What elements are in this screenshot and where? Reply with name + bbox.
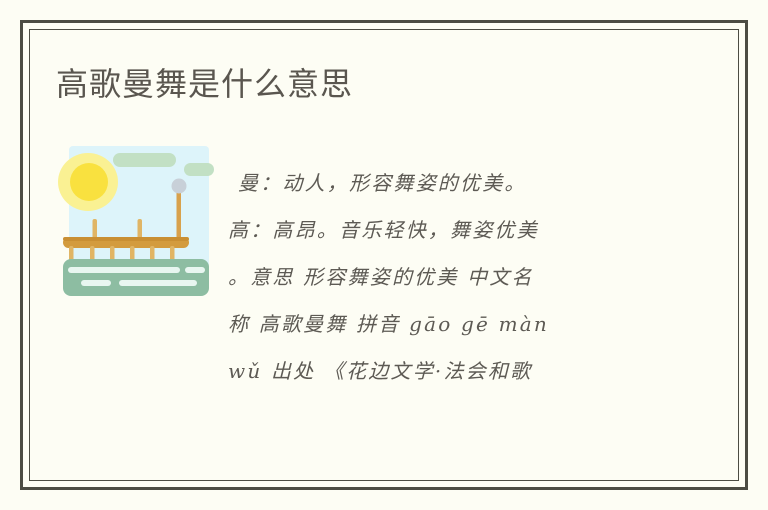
pier-deck-shadow	[63, 237, 189, 241]
definition-line-4: 称 高歌曼舞 拼音 gāo gē màn	[228, 301, 648, 348]
pier-scene-illustration	[57, 146, 209, 296]
definition-line-5: wǔ 出处 《花边文学·法会和歌	[228, 348, 648, 395]
definition-line-1: 曼：动人，形容舞姿的优美。	[228, 160, 648, 207]
definition-text-block: 曼：动人，形容舞姿的优美。 高：高昂。音乐轻快，舞姿优美 。意思 形容舞姿的优美…	[228, 160, 648, 395]
lamp-head-icon	[172, 179, 187, 194]
page-content: 高歌曼舞是什么意思	[0, 0, 768, 510]
lamp-pole	[177, 189, 182, 241]
cloud-icon-large	[113, 153, 176, 167]
page-title: 高歌曼舞是什么意思	[56, 62, 353, 106]
wave-line-2	[185, 267, 205, 273]
wave-line-4	[119, 280, 197, 286]
water-surface	[63, 259, 209, 296]
cloud-icon-small	[184, 163, 214, 176]
sun-core-icon	[70, 163, 108, 201]
definition-line-3: 。意思 形容舞姿的优美 中文名	[228, 254, 648, 301]
page-root: 高歌曼舞是什么意思	[0, 0, 768, 510]
pier-scene-svg	[57, 146, 209, 296]
wave-line-1	[68, 267, 180, 273]
wave-line-3	[81, 280, 111, 286]
definition-line-2: 高：高昂。音乐轻快，舞姿优美	[228, 207, 648, 254]
